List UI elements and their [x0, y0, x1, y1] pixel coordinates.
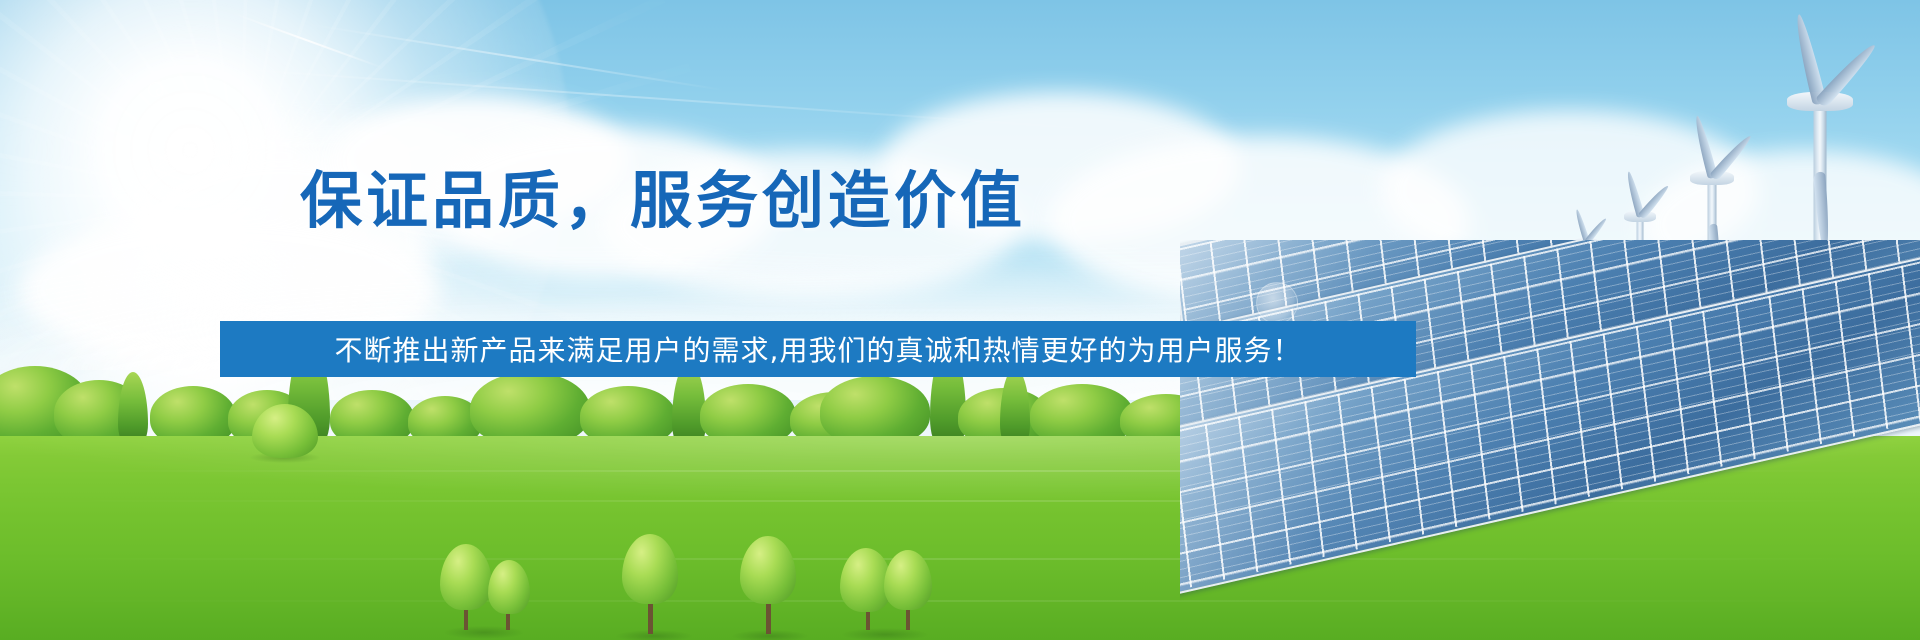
hedge-bush: [250, 506, 410, 538]
hedge-bush: [530, 510, 680, 538]
hedge-bush: [300, 396, 420, 430]
subtitle-banner-bar: 不断推出新产品来满足用户的需求,用我们的真诚和热情更好的为用户服务！: [220, 321, 1416, 377]
tree-shadow: [842, 628, 928, 640]
hedge-bush: [800, 508, 960, 540]
lens-flare-dot: [156, 88, 164, 96]
tree-shadow: [444, 626, 524, 639]
lens-flare-bubble: [1256, 282, 1298, 324]
tree-cypress: [1000, 368, 1030, 446]
solar-panel-array: [1180, 240, 1920, 640]
subtitle-text: 不断推出新产品来满足用户的需求,用我们的真诚和热情更好的为用户服务！: [335, 329, 1302, 369]
hedge-bush: [1040, 398, 1170, 430]
tree-shadow: [616, 630, 692, 640]
tree-cypress: [118, 372, 148, 444]
promo-banner: 保证品质，服务创造价值 不断推出新产品来满足用户的需求,用我们的真诚和热情更好的…: [0, 0, 1920, 640]
hedge-bush: [108, 505, 248, 539]
page-title: 保证品质，服务创造价值: [300, 168, 1020, 235]
tree: [470, 372, 590, 446]
